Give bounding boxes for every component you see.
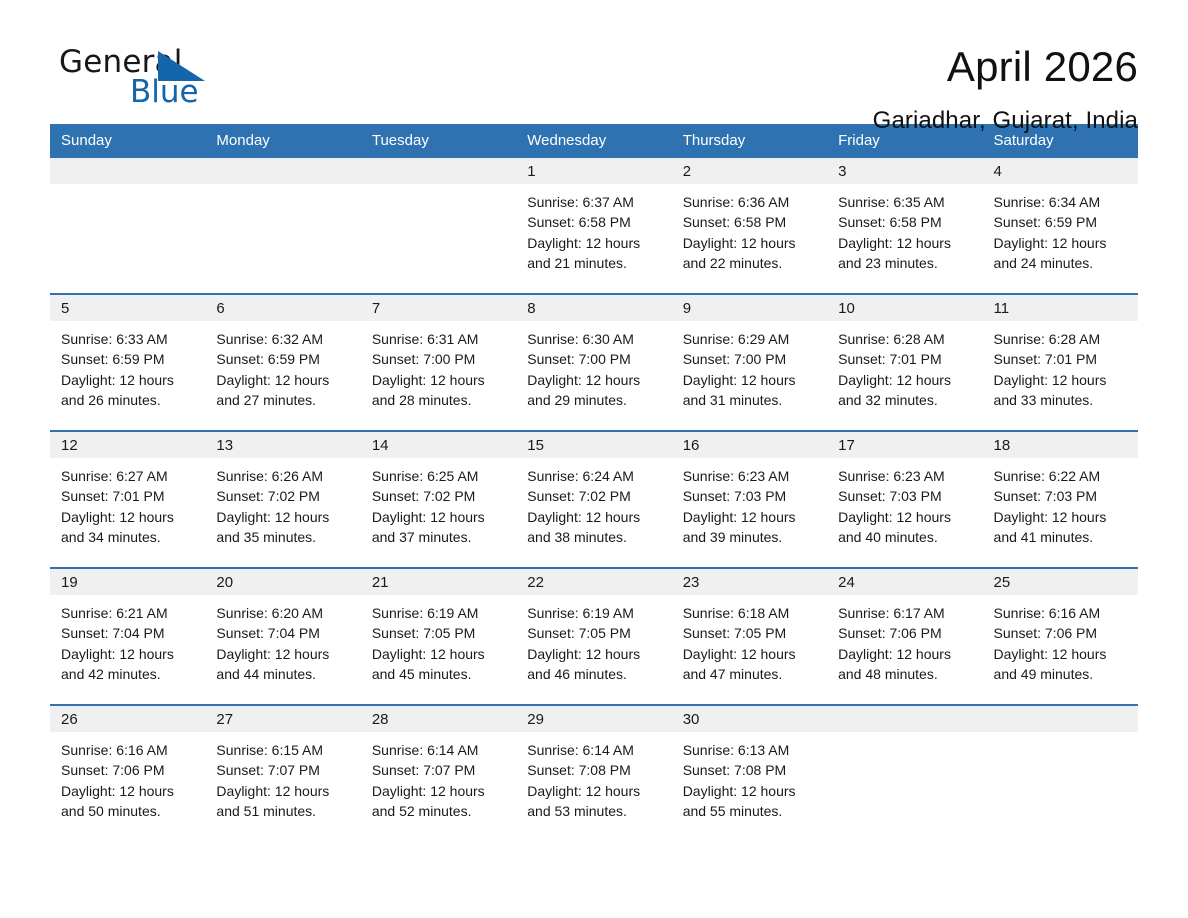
day-detail-daylight-line2: and 22 minutes. (683, 253, 819, 273)
day-detail-sunset: Sunset: 7:06 PM (838, 623, 974, 643)
day-details: Sunrise: 6:14 AMSunset: 7:08 PMDaylight:… (516, 732, 671, 822)
calendar-cell-empty (983, 705, 1138, 841)
calendar-day-cell[interactable]: 24Sunrise: 6:17 AMSunset: 7:06 PMDayligh… (827, 568, 982, 705)
day-detail-daylight-line1: Daylight: 12 hours (838, 370, 974, 390)
calendar-day-cell[interactable]: 20Sunrise: 6:20 AMSunset: 7:04 PMDayligh… (205, 568, 360, 705)
day-detail-daylight-line1: Daylight: 12 hours (683, 233, 819, 253)
day-details: Sunrise: 6:13 AMSunset: 7:08 PMDaylight:… (672, 732, 827, 822)
day-detail-sunrise: Sunrise: 6:19 AM (372, 603, 508, 623)
day-detail-sunrise: Sunrise: 6:27 AM (61, 466, 197, 486)
day-detail-sunrise: Sunrise: 6:28 AM (838, 329, 974, 349)
day-detail-daylight-line1: Daylight: 12 hours (838, 507, 974, 527)
day-number: 15 (516, 432, 671, 458)
calendar-day-cell[interactable]: 15Sunrise: 6:24 AMSunset: 7:02 PMDayligh… (516, 431, 671, 568)
day-detail-sunrise: Sunrise: 6:14 AM (527, 740, 663, 760)
calendar-body: 1Sunrise: 6:37 AMSunset: 6:58 PMDaylight… (50, 158, 1138, 841)
day-number: 20 (205, 569, 360, 595)
day-detail-sunset: Sunset: 7:01 PM (994, 349, 1130, 369)
calendar-day-cell[interactable]: 25Sunrise: 6:16 AMSunset: 7:06 PMDayligh… (983, 568, 1138, 705)
day-number: 7 (361, 295, 516, 321)
day-detail-daylight-line2: and 27 minutes. (216, 390, 352, 410)
day-details: Sunrise: 6:15 AMSunset: 7:07 PMDaylight:… (205, 732, 360, 822)
day-detail-sunset: Sunset: 6:59 PM (216, 349, 352, 369)
calendar-week-row: 19Sunrise: 6:21 AMSunset: 7:04 PMDayligh… (50, 568, 1138, 705)
day-detail-sunset: Sunset: 6:58 PM (683, 212, 819, 232)
calendar-day-cell[interactable]: 3Sunrise: 6:35 AMSunset: 6:58 PMDaylight… (827, 158, 982, 294)
page-header: General Blue April 2026 Gariadhar, Gujar… (50, 0, 1138, 110)
day-detail-sunrise: Sunrise: 6:17 AM (838, 603, 974, 623)
day-detail-daylight-line2: and 42 minutes. (61, 664, 197, 684)
day-detail-daylight-line2: and 21 minutes. (527, 253, 663, 273)
calendar-day-cell[interactable]: 28Sunrise: 6:14 AMSunset: 7:07 PMDayligh… (361, 705, 516, 841)
day-detail-sunset: Sunset: 7:07 PM (216, 760, 352, 780)
calendar-day-cell[interactable]: 14Sunrise: 6:25 AMSunset: 7:02 PMDayligh… (361, 431, 516, 568)
day-detail-sunset: Sunset: 7:03 PM (838, 486, 974, 506)
page-subtitle: Gariadhar, Gujarat, India (873, 107, 1138, 135)
day-detail-daylight-line1: Daylight: 12 hours (216, 781, 352, 801)
day-number: 14 (361, 432, 516, 458)
calendar-day-cell[interactable]: 2Sunrise: 6:36 AMSunset: 6:58 PMDaylight… (672, 158, 827, 294)
day-detail-sunset: Sunset: 7:04 PM (61, 623, 197, 643)
day-details: Sunrise: 6:32 AMSunset: 6:59 PMDaylight:… (205, 321, 360, 411)
calendar-day-cell[interactable]: 7Sunrise: 6:31 AMSunset: 7:00 PMDaylight… (361, 294, 516, 431)
day-detail-sunrise: Sunrise: 6:37 AM (527, 192, 663, 212)
calendar-day-cell[interactable]: 26Sunrise: 6:16 AMSunset: 7:06 PMDayligh… (50, 705, 205, 841)
day-number: 11 (983, 295, 1138, 321)
day-detail-sunset: Sunset: 7:05 PM (372, 623, 508, 643)
day-details: Sunrise: 6:36 AMSunset: 6:58 PMDaylight:… (672, 184, 827, 274)
day-detail-daylight-line2: and 31 minutes. (683, 390, 819, 410)
weekday-header-thursday: Thursday (672, 124, 827, 158)
day-detail-daylight-line2: and 38 minutes. (527, 527, 663, 547)
calendar-week-row: 1Sunrise: 6:37 AMSunset: 6:58 PMDaylight… (50, 158, 1138, 294)
day-detail-daylight-line1: Daylight: 12 hours (527, 781, 663, 801)
day-detail-sunrise: Sunrise: 6:23 AM (838, 466, 974, 486)
calendar-cell-empty (205, 158, 360, 294)
day-detail-sunrise: Sunrise: 6:28 AM (994, 329, 1130, 349)
day-number (205, 158, 360, 184)
day-detail-sunrise: Sunrise: 6:31 AM (372, 329, 508, 349)
day-detail-sunrise: Sunrise: 6:23 AM (683, 466, 819, 486)
day-detail-sunset: Sunset: 6:58 PM (527, 212, 663, 232)
calendar-day-cell[interactable]: 5Sunrise: 6:33 AMSunset: 6:59 PMDaylight… (50, 294, 205, 431)
day-number: 6 (205, 295, 360, 321)
day-detail-sunrise: Sunrise: 6:33 AM (61, 329, 197, 349)
day-number: 24 (827, 569, 982, 595)
day-details: Sunrise: 6:37 AMSunset: 6:58 PMDaylight:… (516, 184, 671, 274)
day-detail-sunset: Sunset: 7:06 PM (994, 623, 1130, 643)
day-number: 30 (672, 706, 827, 732)
day-number: 27 (205, 706, 360, 732)
day-detail-sunset: Sunset: 6:59 PM (994, 212, 1130, 232)
day-detail-daylight-line2: and 29 minutes. (527, 390, 663, 410)
day-number: 18 (983, 432, 1138, 458)
day-number: 28 (361, 706, 516, 732)
day-detail-sunrise: Sunrise: 6:30 AM (527, 329, 663, 349)
general-blue-logo[interactable]: General Blue (50, 44, 250, 116)
calendar-day-cell[interactable]: 23Sunrise: 6:18 AMSunset: 7:05 PMDayligh… (672, 568, 827, 705)
day-detail-daylight-line1: Daylight: 12 hours (372, 781, 508, 801)
day-detail-sunrise: Sunrise: 6:16 AM (994, 603, 1130, 623)
day-detail-sunset: Sunset: 7:05 PM (683, 623, 819, 643)
day-number: 22 (516, 569, 671, 595)
day-detail-daylight-line2: and 55 minutes. (683, 801, 819, 821)
day-detail-sunrise: Sunrise: 6:32 AM (216, 329, 352, 349)
day-detail-sunset: Sunset: 6:58 PM (838, 212, 974, 232)
day-detail-daylight-line1: Daylight: 12 hours (994, 370, 1130, 390)
day-number: 25 (983, 569, 1138, 595)
day-detail-daylight-line1: Daylight: 12 hours (61, 370, 197, 390)
day-detail-daylight-line2: and 26 minutes. (61, 390, 197, 410)
day-detail-sunrise: Sunrise: 6:16 AM (61, 740, 197, 760)
day-detail-daylight-line1: Daylight: 12 hours (216, 507, 352, 527)
day-number: 16 (672, 432, 827, 458)
calendar-cell-empty (361, 158, 516, 294)
day-detail-daylight-line1: Daylight: 12 hours (527, 233, 663, 253)
day-details: Sunrise: 6:14 AMSunset: 7:07 PMDaylight:… (361, 732, 516, 822)
day-details: Sunrise: 6:28 AMSunset: 7:01 PMDaylight:… (827, 321, 982, 411)
day-detail-daylight-line2: and 46 minutes. (527, 664, 663, 684)
day-details: Sunrise: 6:26 AMSunset: 7:02 PMDaylight:… (205, 458, 360, 548)
day-detail-sunrise: Sunrise: 6:34 AM (994, 192, 1130, 212)
weekday-header-tuesday: Tuesday (361, 124, 516, 158)
day-number: 17 (827, 432, 982, 458)
day-detail-daylight-line1: Daylight: 12 hours (994, 644, 1130, 664)
day-detail-daylight-line1: Daylight: 12 hours (527, 644, 663, 664)
calendar-day-cell[interactable]: 18Sunrise: 6:22 AMSunset: 7:03 PMDayligh… (983, 431, 1138, 568)
day-detail-daylight-line1: Daylight: 12 hours (994, 233, 1130, 253)
calendar-week-row: 5Sunrise: 6:33 AMSunset: 6:59 PMDaylight… (50, 294, 1138, 431)
day-detail-daylight-line1: Daylight: 12 hours (61, 507, 197, 527)
day-number (827, 706, 982, 732)
day-number: 26 (50, 706, 205, 732)
day-detail-sunset: Sunset: 7:08 PM (527, 760, 663, 780)
day-detail-sunset: Sunset: 7:03 PM (683, 486, 819, 506)
calendar-day-cell[interactable]: 8Sunrise: 6:30 AMSunset: 7:00 PMDaylight… (516, 294, 671, 431)
day-detail-daylight-line2: and 44 minutes. (216, 664, 352, 684)
day-number: 10 (827, 295, 982, 321)
weekday-header-wednesday: Wednesday (516, 124, 671, 158)
day-detail-daylight-line2: and 47 minutes. (683, 664, 819, 684)
day-detail-daylight-line2: and 34 minutes. (61, 527, 197, 547)
day-detail-sunset: Sunset: 7:01 PM (838, 349, 974, 369)
day-details: Sunrise: 6:24 AMSunset: 7:02 PMDaylight:… (516, 458, 671, 548)
day-detail-sunset: Sunset: 7:02 PM (216, 486, 352, 506)
day-detail-sunrise: Sunrise: 6:14 AM (372, 740, 508, 760)
day-detail-sunset: Sunset: 7:02 PM (372, 486, 508, 506)
day-details: Sunrise: 6:25 AMSunset: 7:02 PMDaylight:… (361, 458, 516, 548)
day-details: Sunrise: 6:29 AMSunset: 7:00 PMDaylight:… (672, 321, 827, 411)
day-detail-daylight-line2: and 23 minutes. (838, 253, 974, 273)
day-detail-sunrise: Sunrise: 6:35 AM (838, 192, 974, 212)
day-detail-sunrise: Sunrise: 6:15 AM (216, 740, 352, 760)
day-number: 19 (50, 569, 205, 595)
day-detail-daylight-line1: Daylight: 12 hours (216, 370, 352, 390)
day-number: 13 (205, 432, 360, 458)
calendar-day-cell[interactable]: 11Sunrise: 6:28 AMSunset: 7:01 PMDayligh… (983, 294, 1138, 431)
day-detail-sunset: Sunset: 7:00 PM (683, 349, 819, 369)
page-title: April 2026 (873, 46, 1138, 89)
day-details: Sunrise: 6:21 AMSunset: 7:04 PMDaylight:… (50, 595, 205, 685)
calendar-day-cell[interactable]: 27Sunrise: 6:15 AMSunset: 7:07 PMDayligh… (205, 705, 360, 841)
day-detail-sunset: Sunset: 7:08 PM (683, 760, 819, 780)
day-detail-sunrise: Sunrise: 6:21 AM (61, 603, 197, 623)
calendar-day-cell[interactable]: 13Sunrise: 6:26 AMSunset: 7:02 PMDayligh… (205, 431, 360, 568)
calendar-day-cell[interactable]: 1Sunrise: 6:37 AMSunset: 6:58 PMDaylight… (516, 158, 671, 294)
calendar-day-cell[interactable]: 30Sunrise: 6:13 AMSunset: 7:08 PMDayligh… (672, 705, 827, 841)
calendar-day-cell[interactable]: 22Sunrise: 6:19 AMSunset: 7:05 PMDayligh… (516, 568, 671, 705)
day-detail-daylight-line1: Daylight: 12 hours (527, 370, 663, 390)
day-details: Sunrise: 6:23 AMSunset: 7:03 PMDaylight:… (672, 458, 827, 548)
day-detail-daylight-line1: Daylight: 12 hours (838, 644, 974, 664)
day-detail-daylight-line1: Daylight: 12 hours (838, 233, 974, 253)
day-number: 9 (672, 295, 827, 321)
day-detail-sunset: Sunset: 7:00 PM (527, 349, 663, 369)
day-detail-daylight-line2: and 39 minutes. (683, 527, 819, 547)
day-detail-daylight-line2: and 40 minutes. (838, 527, 974, 547)
calendar-day-cell[interactable]: 21Sunrise: 6:19 AMSunset: 7:05 PMDayligh… (361, 568, 516, 705)
day-details: Sunrise: 6:31 AMSunset: 7:00 PMDaylight:… (361, 321, 516, 411)
weekday-header-sunday: Sunday (50, 124, 205, 158)
day-detail-daylight-line2: and 41 minutes. (994, 527, 1130, 547)
calendar-day-cell[interactable]: 10Sunrise: 6:28 AMSunset: 7:01 PMDayligh… (827, 294, 982, 431)
day-details: Sunrise: 6:28 AMSunset: 7:01 PMDaylight:… (983, 321, 1138, 411)
title-block: April 2026 Gariadhar, Gujarat, India (873, 44, 1138, 135)
day-detail-daylight-line2: and 37 minutes. (372, 527, 508, 547)
day-detail-daylight-line1: Daylight: 12 hours (994, 507, 1130, 527)
calendar-day-cell[interactable]: 17Sunrise: 6:23 AMSunset: 7:03 PMDayligh… (827, 431, 982, 568)
day-detail-daylight-line1: Daylight: 12 hours (372, 507, 508, 527)
day-detail-daylight-line1: Daylight: 12 hours (61, 644, 197, 664)
day-details: Sunrise: 6:19 AMSunset: 7:05 PMDaylight:… (361, 595, 516, 685)
day-detail-sunset: Sunset: 7:02 PM (527, 486, 663, 506)
day-details: Sunrise: 6:16 AMSunset: 7:06 PMDaylight:… (983, 595, 1138, 685)
calendar-day-cell[interactable]: 4Sunrise: 6:34 AMSunset: 6:59 PMDaylight… (983, 158, 1138, 294)
day-detail-sunset: Sunset: 7:01 PM (61, 486, 197, 506)
day-detail-sunset: Sunset: 7:00 PM (372, 349, 508, 369)
day-detail-daylight-line1: Daylight: 12 hours (372, 644, 508, 664)
day-detail-sunset: Sunset: 7:07 PM (372, 760, 508, 780)
calendar-cell-empty (50, 158, 205, 294)
brand-name-blue: Blue (130, 74, 199, 110)
day-detail-daylight-line2: and 33 minutes. (994, 390, 1130, 410)
day-details: Sunrise: 6:27 AMSunset: 7:01 PMDaylight:… (50, 458, 205, 548)
day-details: Sunrise: 6:20 AMSunset: 7:04 PMDaylight:… (205, 595, 360, 685)
day-detail-daylight-line1: Daylight: 12 hours (683, 781, 819, 801)
day-details: Sunrise: 6:30 AMSunset: 7:00 PMDaylight:… (516, 321, 671, 411)
day-detail-daylight-line2: and 48 minutes. (838, 664, 974, 684)
day-number: 12 (50, 432, 205, 458)
day-detail-sunset: Sunset: 7:04 PM (216, 623, 352, 643)
calendar-week-row: 12Sunrise: 6:27 AMSunset: 7:01 PMDayligh… (50, 431, 1138, 568)
calendar-page: General Blue April 2026 Gariadhar, Gujar… (0, 0, 1188, 918)
day-detail-daylight-line2: and 28 minutes. (372, 390, 508, 410)
day-detail-daylight-line2: and 24 minutes. (994, 253, 1130, 273)
calendar-day-cell[interactable]: 16Sunrise: 6:23 AMSunset: 7:03 PMDayligh… (672, 431, 827, 568)
day-detail-sunrise: Sunrise: 6:18 AM (683, 603, 819, 623)
day-detail-daylight-line2: and 45 minutes. (372, 664, 508, 684)
day-detail-sunset: Sunset: 7:03 PM (994, 486, 1130, 506)
day-detail-daylight-line2: and 49 minutes. (994, 664, 1130, 684)
day-number: 4 (983, 158, 1138, 184)
day-number: 3 (827, 158, 982, 184)
day-detail-daylight-line1: Daylight: 12 hours (683, 507, 819, 527)
day-number: 5 (50, 295, 205, 321)
day-details: Sunrise: 6:33 AMSunset: 6:59 PMDaylight:… (50, 321, 205, 411)
day-detail-daylight-line1: Daylight: 12 hours (372, 370, 508, 390)
day-number: 8 (516, 295, 671, 321)
weekday-header-monday: Monday (205, 124, 360, 158)
calendar-day-cell[interactable]: 9Sunrise: 6:29 AMSunset: 7:00 PMDaylight… (672, 294, 827, 431)
day-details: Sunrise: 6:23 AMSunset: 7:03 PMDaylight:… (827, 458, 982, 548)
day-detail-daylight-line2: and 35 minutes. (216, 527, 352, 547)
calendar-day-cell[interactable]: 29Sunrise: 6:14 AMSunset: 7:08 PMDayligh… (516, 705, 671, 841)
day-number: 1 (516, 158, 671, 184)
day-number: 2 (672, 158, 827, 184)
day-detail-sunrise: Sunrise: 6:25 AM (372, 466, 508, 486)
day-detail-daylight-line2: and 50 minutes. (61, 801, 197, 821)
calendar-week-row: 26Sunrise: 6:16 AMSunset: 7:06 PMDayligh… (50, 705, 1138, 841)
calendar-day-cell[interactable]: 12Sunrise: 6:27 AMSunset: 7:01 PMDayligh… (50, 431, 205, 568)
day-detail-sunrise: Sunrise: 6:22 AM (994, 466, 1130, 486)
calendar-cell-empty (827, 705, 982, 841)
day-detail-sunset: Sunset: 7:05 PM (527, 623, 663, 643)
day-number: 23 (672, 569, 827, 595)
calendar-table: Sunday Monday Tuesday Wednesday Thursday… (50, 124, 1138, 841)
day-detail-daylight-line1: Daylight: 12 hours (683, 370, 819, 390)
day-detail-sunrise: Sunrise: 6:26 AM (216, 466, 352, 486)
day-detail-daylight-line2: and 52 minutes. (372, 801, 508, 821)
day-details: Sunrise: 6:35 AMSunset: 6:58 PMDaylight:… (827, 184, 982, 274)
day-details: Sunrise: 6:19 AMSunset: 7:05 PMDaylight:… (516, 595, 671, 685)
day-detail-daylight-line2: and 32 minutes. (838, 390, 974, 410)
day-detail-daylight-line1: Daylight: 12 hours (527, 507, 663, 527)
day-number (50, 158, 205, 184)
day-detail-daylight-line1: Daylight: 12 hours (683, 644, 819, 664)
day-detail-sunrise: Sunrise: 6:36 AM (683, 192, 819, 212)
calendar-day-cell[interactable]: 6Sunrise: 6:32 AMSunset: 6:59 PMDaylight… (205, 294, 360, 431)
day-number: 21 (361, 569, 516, 595)
day-number: 29 (516, 706, 671, 732)
day-detail-sunrise: Sunrise: 6:20 AM (216, 603, 352, 623)
day-details: Sunrise: 6:18 AMSunset: 7:05 PMDaylight:… (672, 595, 827, 685)
day-details: Sunrise: 6:34 AMSunset: 6:59 PMDaylight:… (983, 184, 1138, 274)
day-number (983, 706, 1138, 732)
day-detail-sunset: Sunset: 6:59 PM (61, 349, 197, 369)
day-details: Sunrise: 6:22 AMSunset: 7:03 PMDaylight:… (983, 458, 1138, 548)
day-detail-sunrise: Sunrise: 6:13 AM (683, 740, 819, 760)
day-detail-daylight-line2: and 51 minutes. (216, 801, 352, 821)
day-detail-sunset: Sunset: 7:06 PM (61, 760, 197, 780)
day-details: Sunrise: 6:16 AMSunset: 7:06 PMDaylight:… (50, 732, 205, 822)
day-detail-sunrise: Sunrise: 6:19 AM (527, 603, 663, 623)
day-detail-sunrise: Sunrise: 6:24 AM (527, 466, 663, 486)
day-detail-sunrise: Sunrise: 6:29 AM (683, 329, 819, 349)
day-details: Sunrise: 6:17 AMSunset: 7:06 PMDaylight:… (827, 595, 982, 685)
day-detail-daylight-line2: and 53 minutes. (527, 801, 663, 821)
calendar-day-cell[interactable]: 19Sunrise: 6:21 AMSunset: 7:04 PMDayligh… (50, 568, 205, 705)
day-detail-daylight-line1: Daylight: 12 hours (216, 644, 352, 664)
day-detail-daylight-line1: Daylight: 12 hours (61, 781, 197, 801)
day-number (361, 158, 516, 184)
